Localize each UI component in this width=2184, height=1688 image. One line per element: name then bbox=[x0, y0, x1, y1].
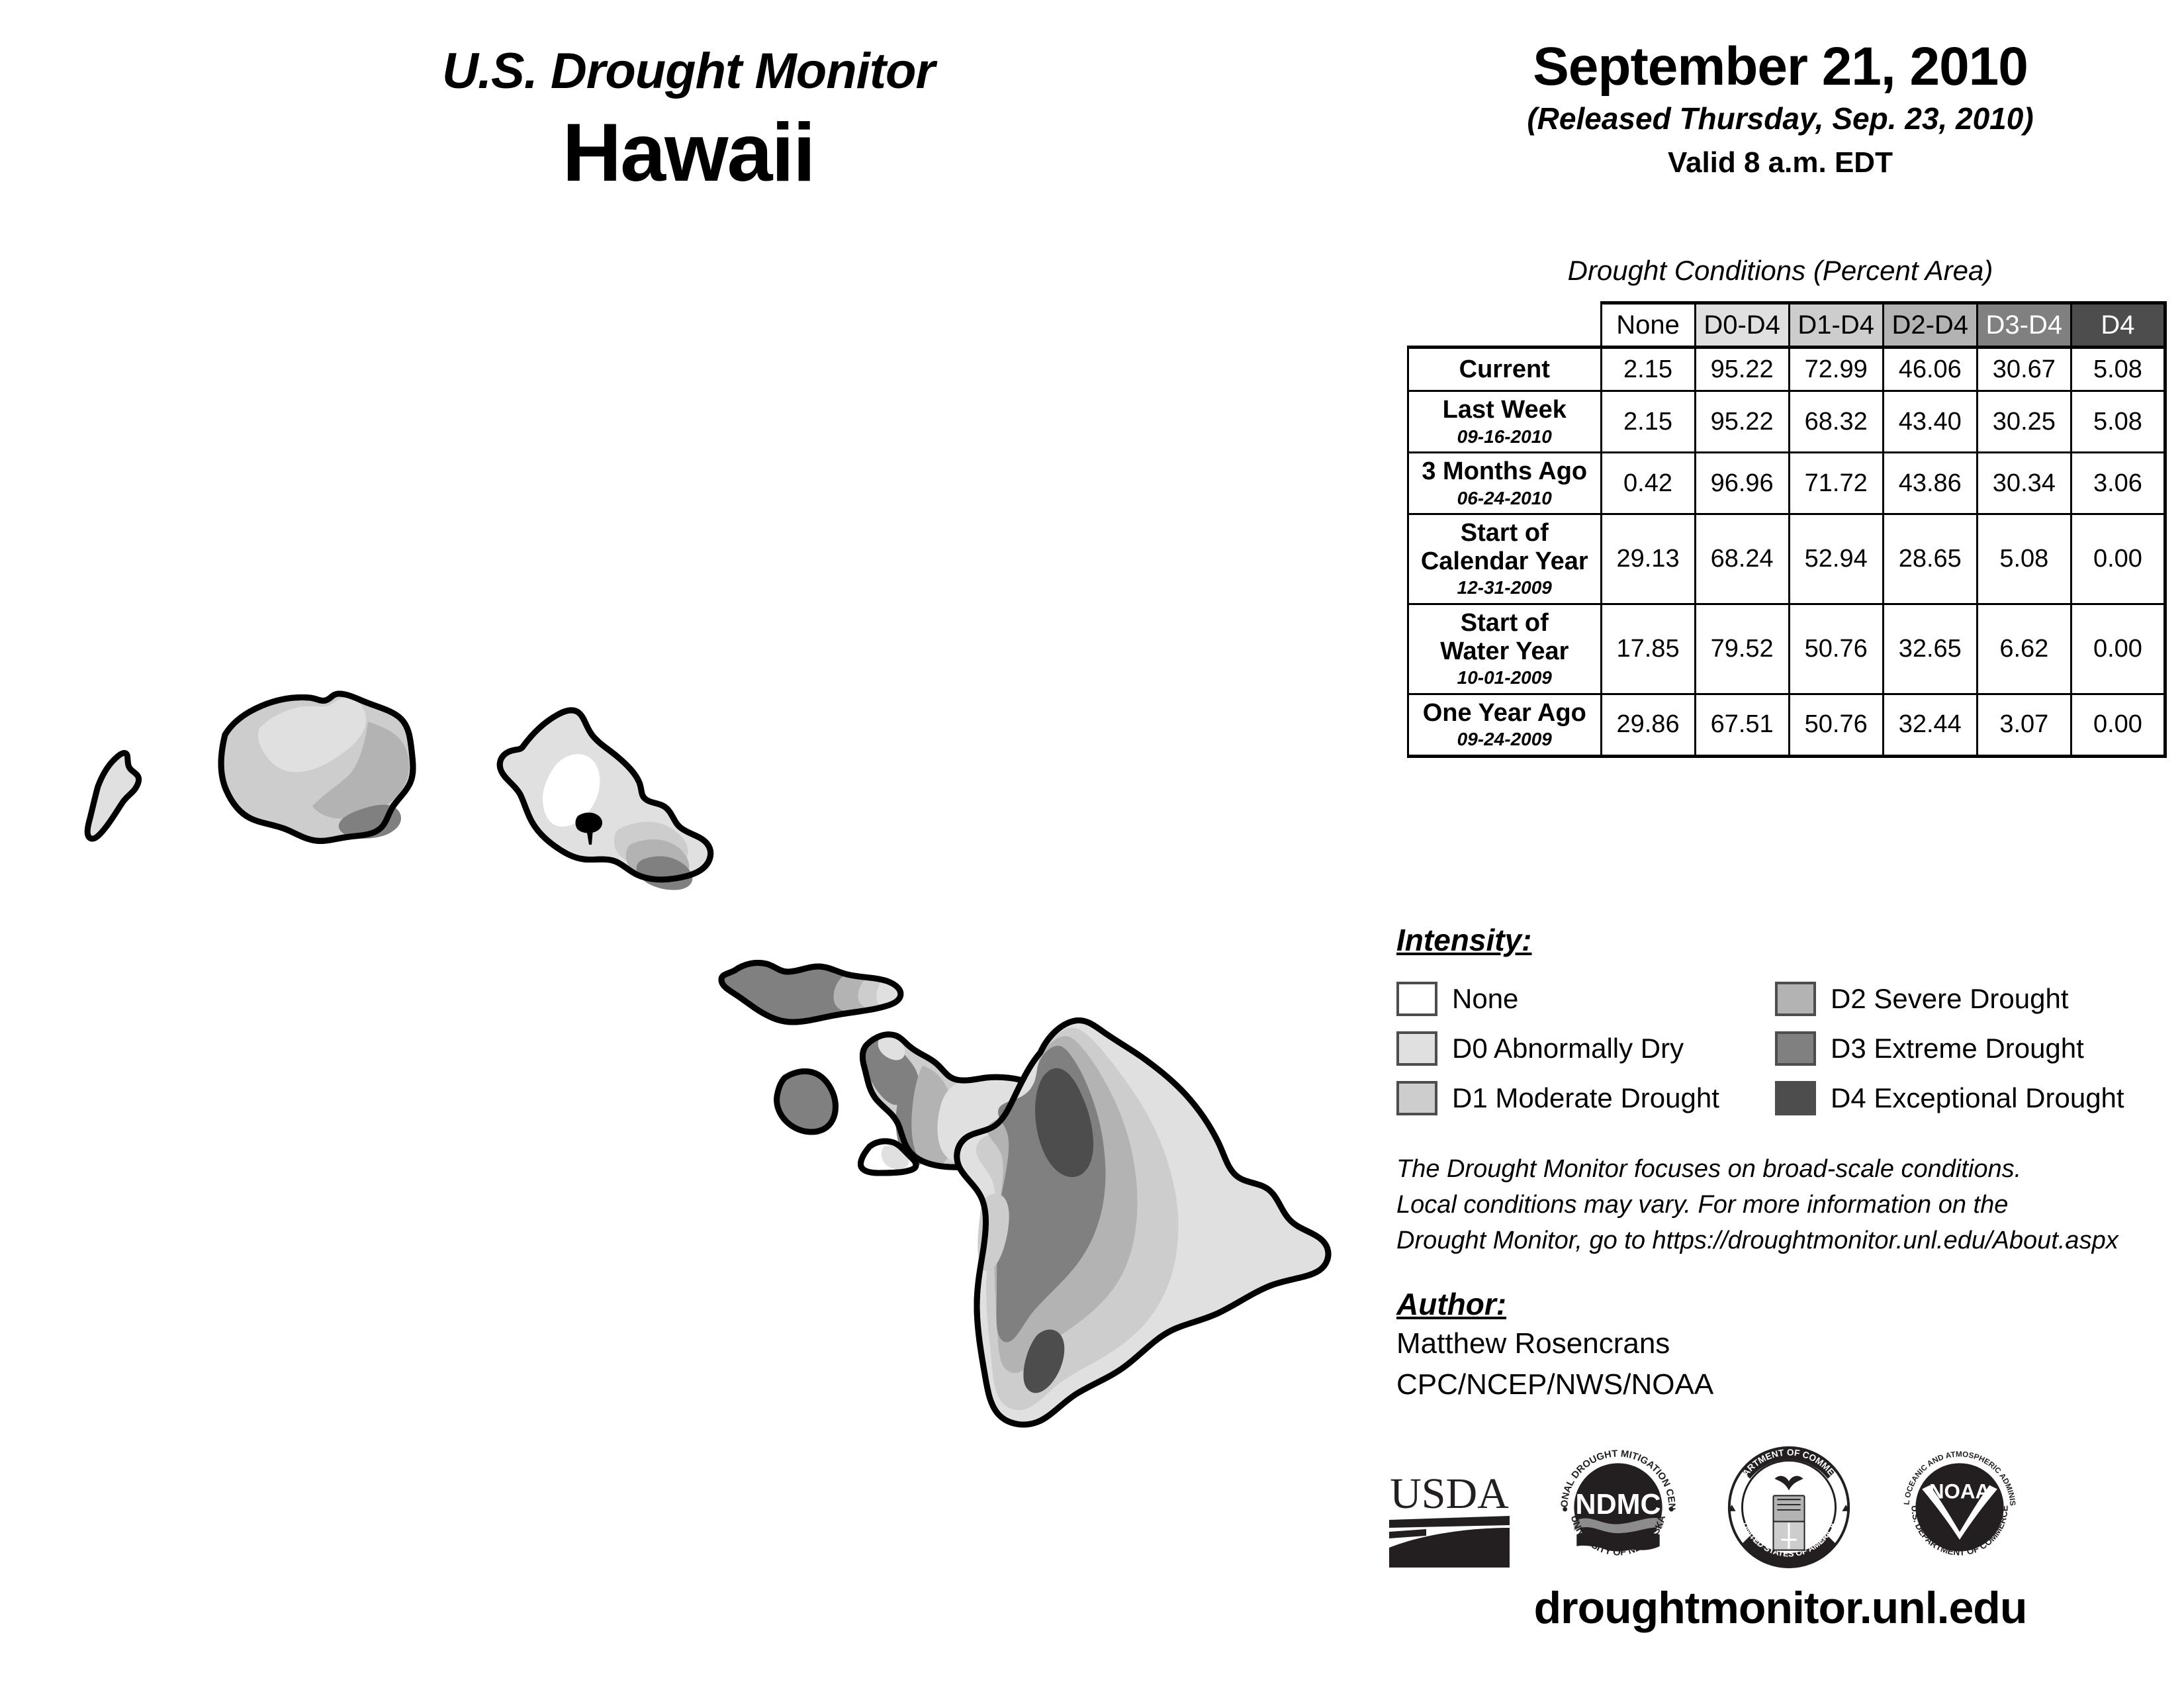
column-header-d2-d4: D2-D4 bbox=[1883, 303, 1977, 348]
cell-d3-d4: 30.67 bbox=[1977, 348, 2071, 391]
row-label-cell: Current bbox=[1408, 348, 1602, 391]
author-heading: Author: bbox=[1396, 1288, 1506, 1321]
legend-label-none: None bbox=[1452, 985, 1518, 1013]
row-label: Start ofWater Year bbox=[1412, 609, 1598, 665]
cell-d4: 3.06 bbox=[2071, 453, 2165, 514]
cell-d0-d4: 67.51 bbox=[1695, 694, 1789, 756]
disclaimer-line-2: Local conditions may vary. For more info… bbox=[1396, 1188, 2184, 1223]
row-date: 06-24-2010 bbox=[1412, 487, 1598, 510]
cell-none: 29.86 bbox=[1601, 694, 1695, 756]
row-label: Last Week bbox=[1412, 396, 1598, 424]
legend-item-d3: D3 Extreme Drought bbox=[1775, 1024, 2177, 1074]
legend-item-d1: D1 Moderate Drought bbox=[1396, 1074, 1775, 1123]
column-header-d1-d4: D1-D4 bbox=[1789, 303, 1883, 348]
legend-swatch-d1 bbox=[1396, 1081, 1437, 1115]
column-header-d0-d4: D0-D4 bbox=[1695, 303, 1789, 348]
cell-d2-d4: 28.65 bbox=[1883, 514, 1977, 604]
row-label-cell: Start ofCalendar Year12-31-2009 bbox=[1408, 514, 1602, 604]
cell-d0-d4: 68.24 bbox=[1695, 514, 1789, 604]
legend-item-d0: D0 Abnormally Dry bbox=[1396, 1024, 1775, 1074]
doc-logo: DEPARTMENT OF COMMERCE UNITED STATES OF … bbox=[1724, 1442, 1854, 1575]
map-title-block: U.S. Drought Monitor Hawaii bbox=[0, 46, 1377, 201]
row-date: 09-16-2010 bbox=[1412, 426, 1598, 448]
legend-label-d0: D0 Abnormally Dry bbox=[1452, 1035, 1684, 1062]
row-label-cell: Start ofWater Year10-01-2009 bbox=[1408, 604, 1602, 694]
cell-d1-d4: 71.72 bbox=[1789, 453, 1883, 514]
table-row: Last Week09-16-20102.1595.2268.3243.4030… bbox=[1408, 391, 2165, 453]
cell-d2-d4: 43.86 bbox=[1883, 453, 1977, 514]
cell-none: 2.15 bbox=[1601, 348, 1695, 391]
row-date: 12-31-2009 bbox=[1412, 577, 1598, 599]
table-corner-cell bbox=[1408, 303, 1602, 348]
column-header-d4: D4 bbox=[2071, 303, 2165, 348]
legend-item-d2: D2 Severe Drought bbox=[1775, 974, 2177, 1024]
table-row: Start ofCalendar Year12-31-200929.1368.2… bbox=[1408, 514, 2165, 604]
author-block: Author: Matthew Rosencrans CPC/NCEP/NWS/… bbox=[1396, 1288, 2184, 1403]
legend-swatch-d2 bbox=[1775, 982, 1816, 1016]
row-label-cell: Last Week09-16-2010 bbox=[1408, 391, 1602, 453]
cell-none: 17.85 bbox=[1601, 604, 1695, 694]
date-header-block: September 21, 2010 (Released Thursday, S… bbox=[1377, 40, 2184, 177]
cell-d3-d4: 3.07 bbox=[1977, 694, 2071, 756]
legend-label-d2: D2 Severe Drought bbox=[1831, 985, 2069, 1013]
svg-text:NOAA: NOAA bbox=[1929, 1479, 1990, 1503]
cell-d0-d4: 95.22 bbox=[1695, 348, 1789, 391]
state-name-title: Hawaii bbox=[0, 106, 1377, 201]
legend-swatch-d4 bbox=[1775, 1081, 1816, 1115]
legend-item-d4: D4 Exceptional Drought bbox=[1775, 1074, 2177, 1123]
table-row: One Year Ago09-24-200929.8667.5150.7632.… bbox=[1408, 694, 2165, 756]
row-label-cell: One Year Ago09-24-2009 bbox=[1408, 694, 1602, 756]
island-molokai bbox=[721, 962, 903, 1022]
usda-logo: USDA bbox=[1387, 1463, 1512, 1575]
legend-swatch-d0 bbox=[1396, 1031, 1437, 1066]
cell-none: 2.15 bbox=[1601, 391, 1695, 453]
row-label: One Year Ago bbox=[1412, 699, 1598, 727]
table-header-row: None D0-D4 D1-D4 D2-D4 D3-D4 D4 bbox=[1408, 303, 2165, 348]
cell-d1-d4: 50.76 bbox=[1789, 694, 1883, 756]
cell-d4: 0.00 bbox=[2071, 604, 2165, 694]
intensity-heading: Intensity: bbox=[1396, 923, 1531, 957]
logo-row: USDA NATIONAL DROUGHT MITIGATION CENTER … bbox=[1387, 1443, 2181, 1575]
ndmc-logo: NATIONAL DROUGHT MITIGATION CENTER UNIVE… bbox=[1553, 1442, 1683, 1575]
hawaii-drought-map bbox=[0, 199, 1363, 1556]
table-row: Start ofWater Year10-01-200917.8579.5250… bbox=[1408, 604, 2165, 694]
table-row: Current2.1595.2272.9946.0630.675.08 bbox=[1408, 348, 2165, 391]
legend-swatch-none bbox=[1396, 982, 1437, 1016]
column-header-none: None bbox=[1601, 303, 1695, 348]
cell-d4: 0.00 bbox=[2071, 694, 2165, 756]
cell-d2-d4: 46.06 bbox=[1883, 348, 1977, 391]
row-label-cell: 3 Months Ago06-24-2010 bbox=[1408, 453, 1602, 514]
noaa-logo: NATIONAL OCEANIC AND ATMOSPHERIC ADMINIS… bbox=[1895, 1442, 2025, 1575]
cell-d3-d4: 30.25 bbox=[1977, 391, 2071, 453]
disclaimer-line-3: Drought Monitor, go to https://droughtmo… bbox=[1396, 1223, 2184, 1259]
cell-d1-d4: 68.32 bbox=[1789, 391, 1883, 453]
cell-d1-d4: 50.76 bbox=[1789, 604, 1883, 694]
row-date: 09-24-2009 bbox=[1412, 728, 1598, 751]
drought-conditions-table: None D0-D4 D1-D4 D2-D4 D3-D4 D4 Current2… bbox=[1407, 301, 2167, 758]
svg-text:NDMC: NDMC bbox=[1575, 1489, 1661, 1521]
legend-item-none: None bbox=[1396, 974, 1775, 1024]
footer-url: droughtmonitor.unl.edu bbox=[1377, 1582, 2184, 1634]
page-title: U.S. Drought Monitor bbox=[0, 46, 1377, 97]
valid-time: Valid 8 a.m. EDT bbox=[1377, 148, 2184, 177]
cell-d0-d4: 95.22 bbox=[1695, 391, 1789, 453]
cell-d4: 0.00 bbox=[2071, 514, 2165, 604]
legend-swatch-d3 bbox=[1775, 1031, 1816, 1066]
cell-d3-d4: 30.34 bbox=[1977, 453, 2071, 514]
row-date: 10-01-2009 bbox=[1412, 667, 1598, 689]
cell-d4: 5.08 bbox=[2071, 348, 2165, 391]
disclaimer-line-1: The Drought Monitor focuses on broad-sca… bbox=[1396, 1152, 2184, 1188]
table-caption: Drought Conditions (Percent Area) bbox=[1377, 255, 2184, 287]
cell-d2-d4: 32.65 bbox=[1883, 604, 1977, 694]
cell-d2-d4: 43.40 bbox=[1883, 391, 1977, 453]
cell-d3-d4: 6.62 bbox=[1977, 604, 2071, 694]
legend-label-d3: D3 Extreme Drought bbox=[1831, 1035, 2084, 1062]
island-oahu bbox=[500, 710, 710, 890]
cell-d0-d4: 79.52 bbox=[1695, 604, 1789, 694]
island-lanai bbox=[777, 1071, 836, 1132]
release-date: (Released Thursday, Sep. 23, 2010) bbox=[1377, 103, 2184, 134]
table-row: 3 Months Ago06-24-20100.4296.9671.7243.8… bbox=[1408, 453, 2165, 514]
disclaimer-text: The Drought Monitor focuses on broad-sca… bbox=[1396, 1152, 2184, 1259]
cell-d1-d4: 52.94 bbox=[1789, 514, 1883, 604]
legend-label-d1: D1 Moderate Drought bbox=[1452, 1084, 1719, 1112]
legend-label-d4: D4 Exceptional Drought bbox=[1831, 1084, 2124, 1112]
cell-none: 0.42 bbox=[1601, 453, 1695, 514]
cell-d2-d4: 32.44 bbox=[1883, 694, 1977, 756]
row-label: 3 Months Ago bbox=[1412, 457, 1598, 486]
row-label: Current bbox=[1412, 355, 1598, 384]
cell-d3-d4: 5.08 bbox=[1977, 514, 2071, 604]
row-label: Start ofCalendar Year bbox=[1412, 519, 1598, 575]
cell-none: 29.13 bbox=[1601, 514, 1695, 604]
island-kauai bbox=[221, 694, 413, 841]
valid-date: September 21, 2010 bbox=[1377, 40, 2184, 94]
cell-d0-d4: 96.96 bbox=[1695, 453, 1789, 514]
author-name: Matthew Rosencrans bbox=[1396, 1325, 2184, 1362]
intensity-legend: Intensity: NoneD2 Severe DroughtD0 Abnor… bbox=[1396, 923, 2177, 1123]
cell-d4: 5.08 bbox=[2071, 391, 2165, 453]
legend-grid: NoneD2 Severe DroughtD0 Abnormally DryD3… bbox=[1396, 974, 2177, 1123]
author-affiliation: CPC/NCEP/NWS/NOAA bbox=[1396, 1366, 2184, 1403]
island-niihau bbox=[87, 753, 138, 839]
svg-text:USDA: USDA bbox=[1390, 1470, 1509, 1518]
cell-d1-d4: 72.99 bbox=[1789, 348, 1883, 391]
column-header-d3-d4: D3-D4 bbox=[1977, 303, 2071, 348]
